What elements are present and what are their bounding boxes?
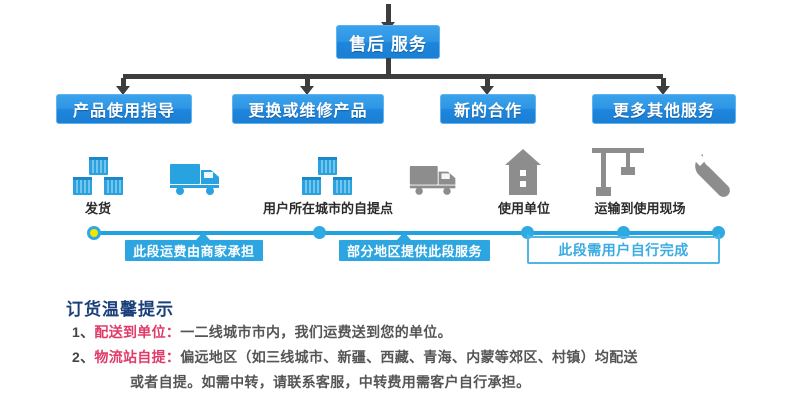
timeline-dot-1 — [313, 226, 326, 239]
note-number-1: 1、 — [72, 324, 94, 340]
flow-box-more-services[interactable]: 更多其他服务 — [592, 94, 736, 124]
note-text-1: 一二线城市市内，我们运费送到您的单位。 — [180, 324, 452, 340]
stage-label-transport-to-site: 运输到使用现场 — [575, 198, 705, 217]
truck-icon — [408, 162, 460, 196]
note-keyword-2: 物流站自提： — [94, 349, 180, 365]
wrench-icon — [686, 152, 736, 198]
connector-horizontal-bus — [123, 74, 663, 79]
building-icon — [500, 148, 546, 196]
notes-title: 订货温馨提示 — [66, 295, 174, 320]
note-keyword-1: 配送到单位： — [94, 324, 180, 340]
timeline-dot-start — [90, 229, 98, 237]
note-item-2-continued: 或者自提。如需中转，请联系客服，中转费用需客户自行承担。 — [130, 372, 530, 392]
tag-notch-1 — [397, 232, 411, 240]
note-item-1: 1、配送到单位：一二线城市市内，我们运费送到您的单位。 — [72, 322, 452, 342]
boxes-icon — [70, 155, 126, 197]
note-number-2: 2、 — [72, 349, 94, 365]
flow-box-replace-or-repair[interactable]: 更换或维修产品 — [232, 94, 384, 124]
flow-box-product-usage-guide[interactable]: 产品使用指导 — [56, 94, 192, 124]
timeline-tag-customer-completes: 此段需用户自行完成 — [527, 236, 720, 264]
timeline-tag-merchant-pays: 此段运费由商家承担 — [125, 240, 263, 261]
flow-box-root[interactable]: 售后 服务 — [336, 25, 440, 59]
crane-icon — [592, 146, 650, 196]
infographic-canvas: 售后 服务 产品使用指导 更换或维修产品 新的合作 更多其他服务 — [0, 0, 790, 412]
stage-label-shipping: 发货 — [60, 198, 136, 217]
note-text-2: 偏远地区（如三线城市、新疆、西藏、青海、内蒙等郊区、村镇）均配送 — [180, 349, 638, 365]
note-item-2: 2、物流站自提：偏远地区（如三线城市、新疆、西藏、青海、内蒙等郊区、村镇）均配送 — [72, 347, 638, 367]
flow-box-new-cooperation[interactable]: 新的合作 — [440, 94, 536, 124]
stage-label-pickup-point: 用户所在城市的自提点 — [245, 198, 411, 217]
tag-notch-0 — [196, 232, 210, 240]
timeline-tag-partial-area-service: 部分地区提供此段服务 — [339, 240, 490, 261]
truck-icon — [168, 160, 224, 196]
boxes-icon — [299, 155, 355, 197]
stage-label-using-unit: 使用单位 — [483, 198, 565, 217]
